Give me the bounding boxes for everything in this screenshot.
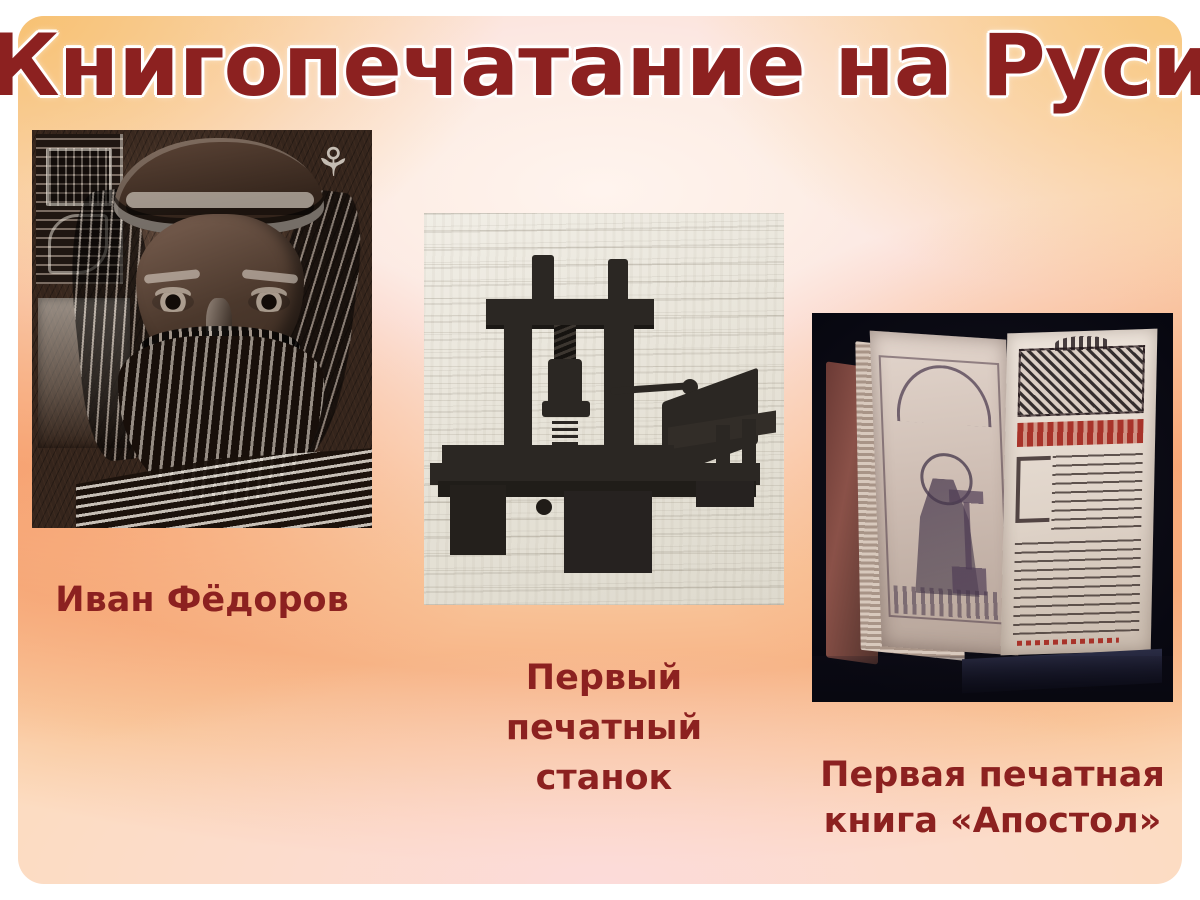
woodcut-brow-left xyxy=(144,269,201,284)
press-spring xyxy=(552,415,578,445)
press-screw-nut xyxy=(548,359,582,405)
book-engraving-illustration xyxy=(879,355,1009,625)
printing-press-illustration xyxy=(424,213,784,605)
presentation-slide: Книгопечатание на Руси ⚘ Иван Фёдоров xyxy=(0,0,1200,900)
book-left-page xyxy=(870,331,1019,656)
press-foot-left xyxy=(450,485,506,555)
book-red-closing-line xyxy=(1017,638,1119,646)
press-top-beam xyxy=(486,299,654,325)
book-illustration-arch xyxy=(895,362,992,427)
image-first-printing-press xyxy=(424,213,784,605)
image-ivan-fyodorov-portrait: ⚘ xyxy=(32,130,372,528)
book-text-column-lower xyxy=(1013,535,1141,635)
press-leg-right-outer xyxy=(742,419,756,473)
book-right-page xyxy=(1001,329,1158,656)
press-column-left xyxy=(504,323,532,463)
caption-first-printing-press: Первый печатный станок xyxy=(424,653,784,803)
book-lectern xyxy=(949,489,987,595)
book-text-column-upper xyxy=(1051,451,1143,530)
book-drop-capital xyxy=(1015,456,1050,523)
press-leg-right-inner xyxy=(716,425,730,473)
woodcut-brow-right xyxy=(242,269,299,284)
image-apostol-book xyxy=(812,313,1173,702)
page-title: Книгопечатание на Руси xyxy=(0,18,1200,114)
press-foot-right xyxy=(696,481,754,507)
press-finial-left xyxy=(532,255,554,299)
book-illustration-border xyxy=(894,585,1003,620)
caption-ivan-fyodorov: Иван Фёдоров xyxy=(32,578,372,622)
caption-apostol-book: Первая печатная книга «Апостол» xyxy=(800,752,1185,844)
woodcut-eye-right xyxy=(248,292,290,312)
book-foreground-shadow xyxy=(812,656,1173,702)
press-pivot-pin xyxy=(536,499,552,515)
woodcut-eye-left xyxy=(152,292,194,312)
press-foot-center xyxy=(564,491,652,573)
book-photo-backdrop xyxy=(812,313,1173,702)
book-red-title-band xyxy=(1017,419,1144,447)
book-ornamental-headpiece xyxy=(1018,345,1146,417)
press-finial-right xyxy=(608,259,628,299)
